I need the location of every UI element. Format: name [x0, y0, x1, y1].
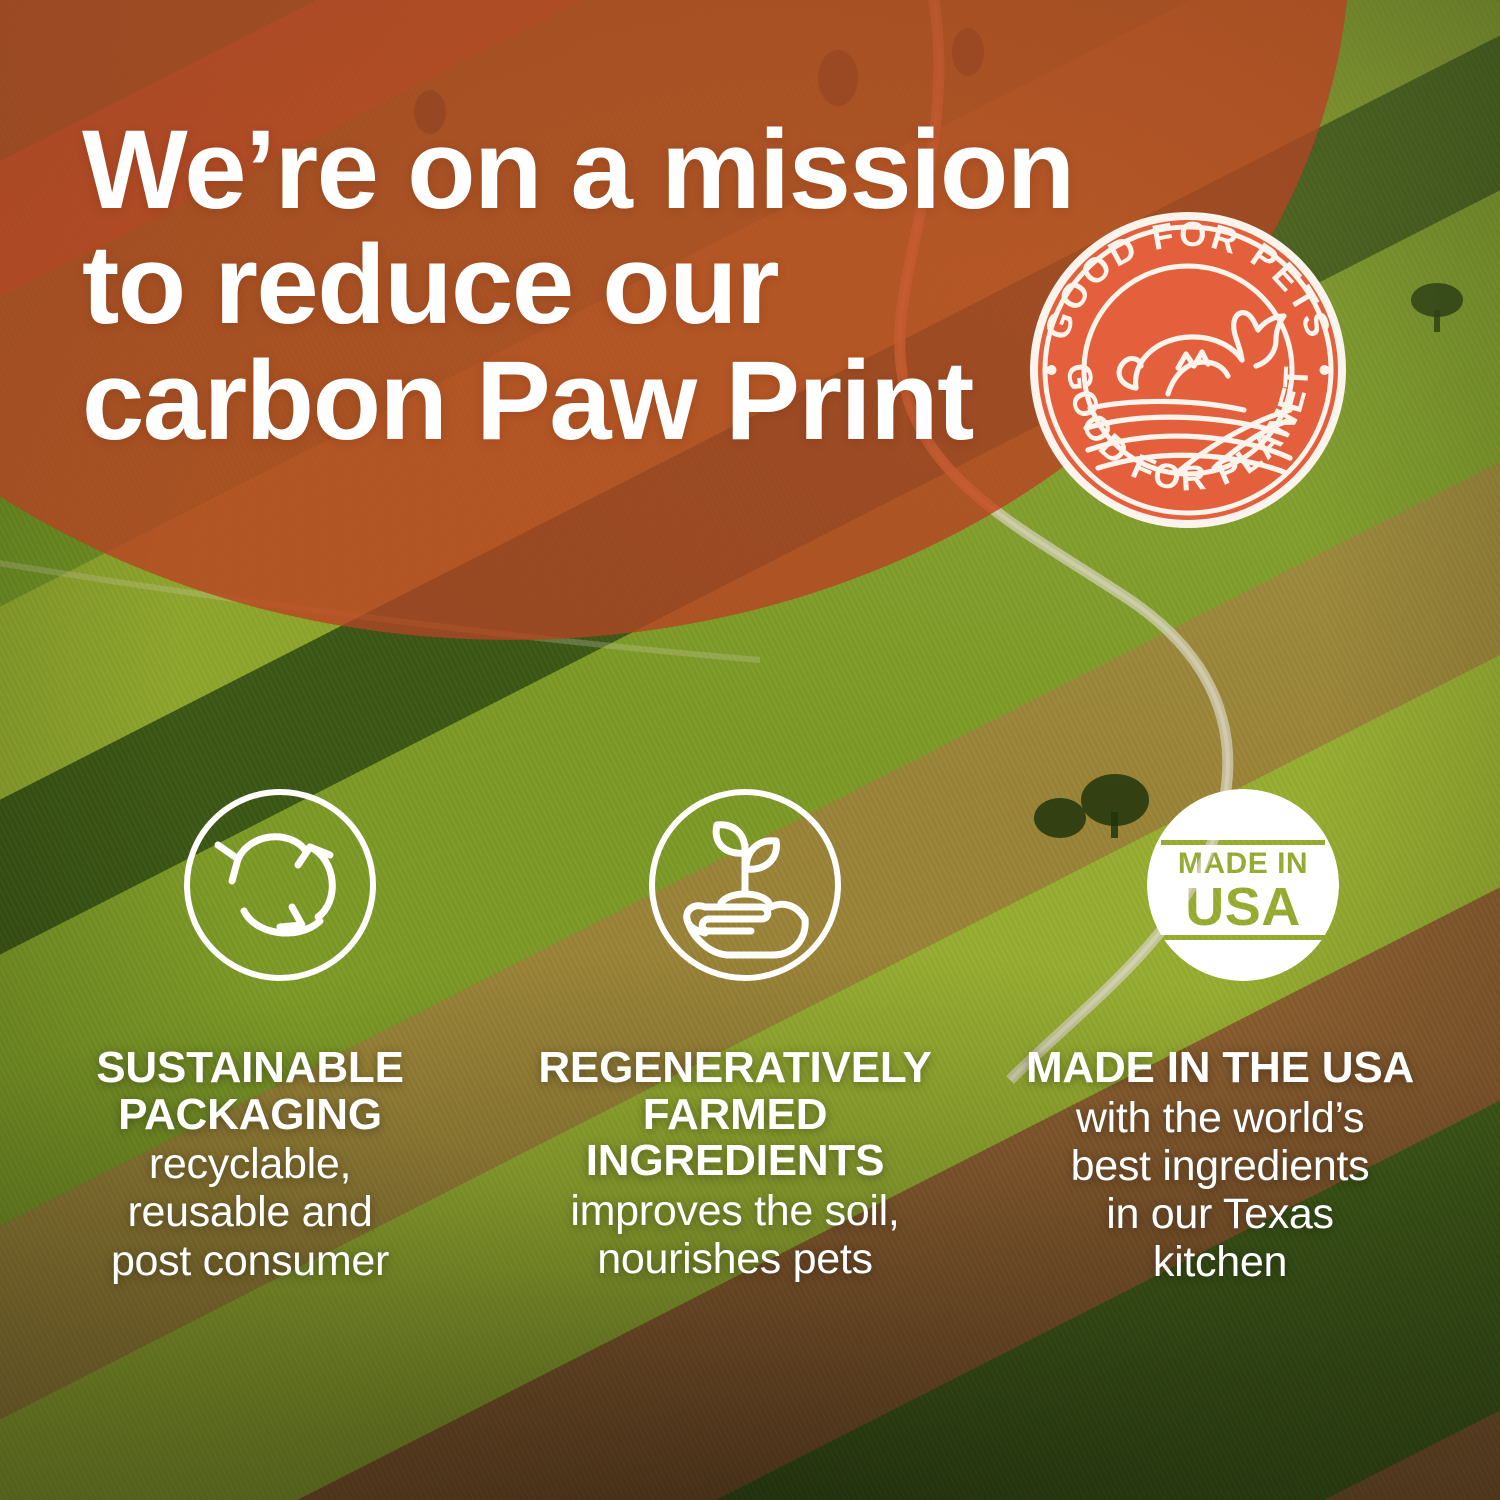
feature-title-line: MADE IN THE USA	[976, 1045, 1464, 1092]
made-in-usa-badge-icon: MADE IN USA	[1143, 785, 1343, 985]
feature-icon-row: MADE IN USA	[0, 785, 1500, 990]
promo-graphic: We’re on a mission to reduce our carbon …	[0, 0, 1500, 1500]
headline-line-1: We’re on a mission	[82, 112, 1082, 227]
feature-body-line: with the world’s	[976, 1094, 1464, 1142]
feature-title: MADE IN THE USA	[976, 1045, 1464, 1092]
feature-body-line: in our Texas	[976, 1190, 1464, 1238]
headline-line-3: carbon Paw Print	[82, 343, 1082, 458]
page-title: We’re on a mission to reduce our carbon …	[82, 112, 1082, 458]
good-for-pets-planet-seal: GOOD FOR PETS GOOD FOR PLANET	[1028, 210, 1348, 530]
feature-title-line: SUSTAINABLE	[6, 1045, 494, 1092]
feature-body-line: recyclable,	[6, 1140, 494, 1188]
feature-body: recyclable, reusable and post consumer	[6, 1140, 494, 1284]
feature-body: improves the soil, nourishes pets	[506, 1187, 964, 1283]
hand-holding-sprout-icon	[645, 785, 845, 985]
feature-body-line: best ingredients	[976, 1142, 1464, 1190]
feature-title-line: REGENERATIVELY	[506, 1045, 964, 1092]
feature-title-line: INGREDIENTS	[506, 1138, 964, 1185]
feature-body-line: improves the soil,	[506, 1187, 964, 1235]
feature-body-line: nourishes pets	[506, 1235, 964, 1283]
feature-title-line: FARMED	[506, 1092, 964, 1139]
feature-column-sustainable-packaging: SUSTAINABLE PACKAGING recyclable, reusab…	[0, 1045, 500, 1286]
headline-line-2: to reduce our	[82, 227, 1082, 342]
feature-body: with the world’s best ingredients in our…	[976, 1094, 1464, 1287]
feature-body-line: kitchen	[976, 1238, 1464, 1286]
feature-title-line: PACKAGING	[6, 1092, 494, 1139]
feature-body-line: reusable and	[6, 1188, 494, 1236]
feature-title: REGENERATIVELY FARMED INGREDIENTS	[506, 1045, 964, 1185]
seal-dot-left	[1047, 365, 1057, 375]
feature-columns: SUSTAINABLE PACKAGING recyclable, reusab…	[0, 1045, 1500, 1286]
seal-dot-right	[1320, 365, 1330, 375]
recycle-icon	[180, 785, 380, 985]
feature-title: SUSTAINABLE PACKAGING	[6, 1045, 494, 1138]
feature-column-regenerative-ingredients: REGENERATIVELY FARMED INGREDIENTS improv…	[500, 1045, 970, 1286]
feature-body-line: post consumer	[6, 1237, 494, 1285]
feature-column-made-in-usa: MADE IN THE USA with the world’s best in…	[970, 1045, 1470, 1286]
